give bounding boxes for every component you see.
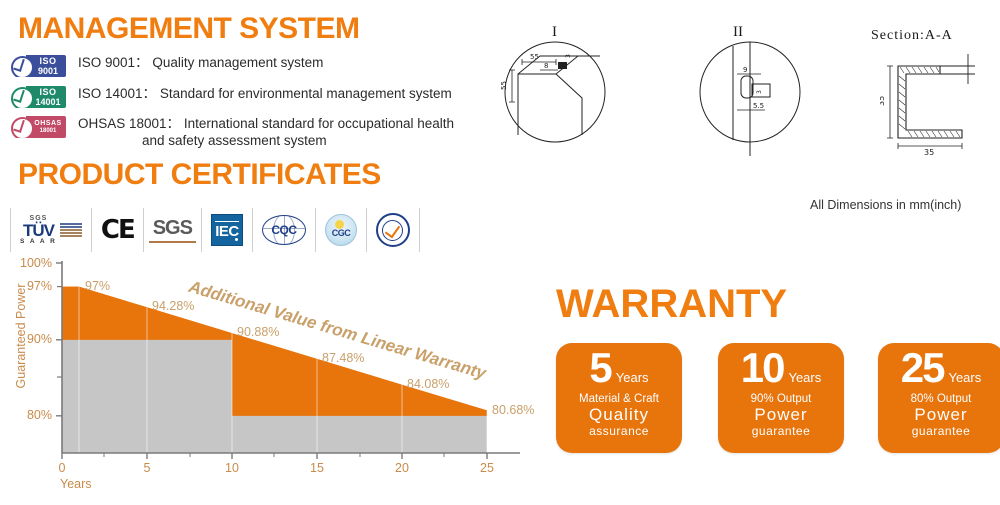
warranty-card-1-main: Power — [718, 406, 844, 424]
iec-logo: IEC — [202, 208, 253, 252]
sgs-logo: SGS — [144, 208, 202, 252]
certificate-logo-strip: SGS TÜV S A A R CE SGS IEC CQC CGC — [10, 205, 420, 255]
sgs-mark-text: SGS — [153, 217, 192, 243]
warranty-card-2-number: 25 — [901, 347, 944, 389]
svg-text:55: 55 — [500, 81, 508, 90]
ohsas-18001-badge: OHSAS 18001 — [10, 116, 66, 138]
ohsas-18001-desc: International standard for occupational … — [184, 116, 454, 131]
iso-9001-text: ISO 9001： Quality management system — [78, 54, 323, 71]
tuv-saar-text: S A A R — [20, 239, 57, 246]
xtick-label-25: 25 — [474, 461, 500, 475]
guaranteed-power-chart: Guaranteed Power — [0, 255, 550, 500]
iso-14001-badge-bottom: 14001 — [35, 98, 60, 107]
iso-14001-desc: Standard for environmental management sy… — [160, 86, 452, 101]
warranty-card-2-main: Power — [878, 406, 1000, 424]
section-label: Section:A-A — [871, 28, 953, 44]
cqc-logo: CQC — [253, 208, 316, 252]
point-label-80: 80.68% — [492, 403, 534, 417]
warranty-card-0-years: Years — [616, 370, 649, 385]
cqc-mark-text: CQC — [271, 223, 296, 237]
ohsas-18001-row: OHSAS 18001 OHSAS 18001： International s… — [10, 115, 454, 149]
tuv-standard-lines — [60, 223, 82, 237]
warranty-card-1-number: 10 — [741, 347, 784, 389]
point-label-87: 87.48% — [322, 351, 364, 365]
section-drawing: 35 35 — [880, 48, 995, 163]
point-label-97: 97% — [85, 279, 110, 293]
ytick-label-97: 97% — [6, 279, 52, 293]
point-label-94: 94.28% — [152, 299, 194, 313]
detail-drawing-1: 55 55 8 3 — [500, 40, 610, 160]
ce-mark-text: CE — [101, 215, 134, 245]
iso-14001-text: ISO 14001： Standard for environmental ma… — [78, 85, 452, 102]
ytick-label-80: 80% — [6, 408, 52, 422]
ohsas-badge-top: OHSAS — [34, 120, 61, 127]
check-icon — [385, 221, 400, 238]
tuv-saar-logo: SGS TÜV S A A R — [10, 208, 92, 252]
iso-9001-badge-bottom: 9001 — [38, 67, 58, 76]
sun-icon — [335, 220, 344, 229]
warranty-card-25-years[interactable]: 25 Years 80% Output Power guarantee — [878, 343, 1000, 453]
ohsas-18001-desc-line2: and safety assessment system — [78, 132, 454, 149]
cgc-logo: CGC — [316, 208, 367, 252]
svg-text:3: 3 — [565, 54, 572, 58]
xtick-label-20: 20 — [389, 461, 415, 475]
iso-14001-badge: ISO 14001 — [10, 86, 66, 108]
xtick-label-0: 0 — [49, 461, 75, 475]
svg-text:8: 8 — [544, 62, 548, 70]
svg-text:5.5: 5.5 — [753, 102, 764, 110]
xtick-label-10: 10 — [219, 461, 245, 475]
detail-drawing-2: 9 5.5 3 — [695, 40, 805, 160]
chart-x-axis-label: Years — [60, 477, 92, 491]
warranty-card-0-number: 5 — [589, 347, 610, 389]
iso-14001-badge-top: ISO — [39, 88, 56, 97]
iso-14001-label: ISO 14001： — [78, 86, 156, 101]
svg-text:35: 35 — [924, 148, 934, 157]
page-root: MANAGEMENT SYSTEM ISO 9001 ISO 9001： Qua… — [0, 0, 1000, 500]
ohsas-badge-bottom: 18001 — [40, 128, 57, 134]
warranty-card-1-main2: guarantee — [718, 424, 844, 438]
iso-9001-badge-top: ISO — [39, 57, 56, 66]
ytick-label-100: 100% — [6, 256, 52, 270]
detail-label-2: II — [733, 24, 743, 41]
warranty-card-2-sub: 80% Output — [878, 393, 1000, 405]
management-system-title: MANAGEMENT SYSTEM — [18, 12, 360, 46]
svg-text:3: 3 — [756, 90, 763, 94]
ytick-label-90: 90% — [6, 332, 52, 346]
detail-label-1: I — [552, 24, 557, 41]
svg-text:35: 35 — [880, 96, 886, 106]
warranty-card-2-years: Years — [948, 370, 981, 385]
dimension-note: All Dimensions in mm(inch) — [810, 198, 961, 212]
ce-logo: CE — [92, 208, 144, 252]
grey-lower-band — [232, 416, 487, 453]
certification-seal-logo — [367, 208, 420, 252]
xtick-label-5: 5 — [134, 461, 160, 475]
point-label-84: 84.08% — [407, 377, 449, 391]
warranty-card-0-sub: Material & Craft — [556, 393, 682, 405]
warranty-card-0-main2: assurance — [556, 424, 682, 438]
svg-text:9: 9 — [743, 66, 747, 74]
iso-9001-row: ISO 9001 ISO 9001： Quality management sy… — [10, 54, 323, 77]
iso-14001-row: ISO 14001 ISO 14001： Standard for enviro… — [10, 85, 452, 108]
point-label-90: 90.88% — [237, 325, 279, 339]
ohsas-18001-text: OHSAS 18001： International standard for … — [78, 115, 454, 149]
warranty-card-10-years[interactable]: 10 Years 90% Output Power guarantee — [718, 343, 844, 453]
xtick-label-15: 15 — [304, 461, 330, 475]
warranty-card-0-main: Quality — [556, 406, 682, 424]
warranty-card-1-sub: 90% Output — [718, 393, 844, 405]
product-certificates-title: PRODUCT CERTIFICATES — [18, 158, 381, 192]
iso-9001-desc: Quality management system — [152, 55, 323, 70]
warranty-title: WARRANTY — [556, 282, 787, 327]
iec-mark-text: IEC — [215, 221, 239, 240]
iso-9001-badge: ISO 9001 — [10, 55, 66, 77]
warranty-card-5-years[interactable]: 5 Years Material & Craft Quality assuran… — [556, 343, 682, 453]
ohsas-18001-label: OHSAS 18001： — [78, 116, 180, 131]
iso-9001-label: ISO 9001： — [78, 55, 149, 70]
cgc-mark-text: CGC — [332, 228, 351, 238]
tuv-text: TÜV — [23, 222, 54, 239]
warranty-card-2-main2: guarantee — [878, 424, 1000, 438]
warranty-card-1-years: Years — [788, 370, 821, 385]
svg-text:55: 55 — [530, 53, 539, 61]
